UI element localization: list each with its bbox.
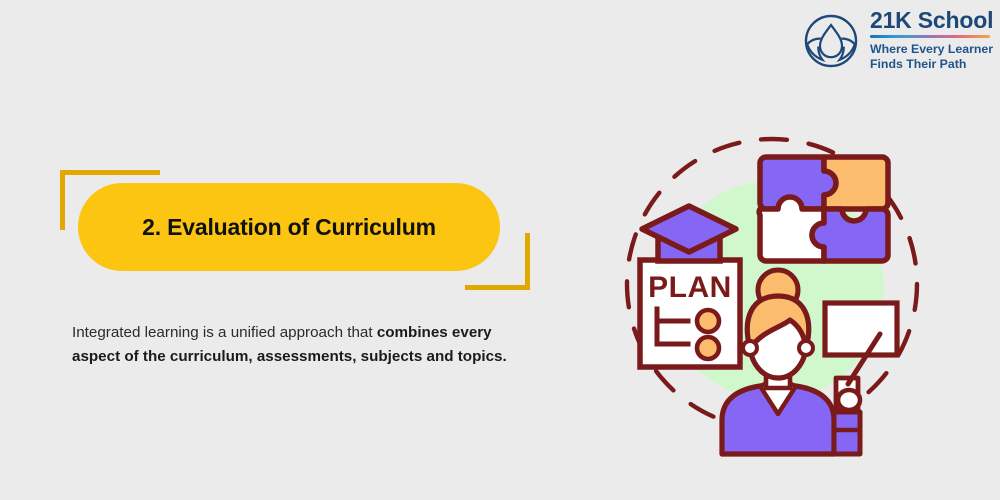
brand-tagline-line1: Where Every Learner <box>870 42 993 57</box>
body-text-normal: Integrated learning is a unified approac… <box>72 324 377 341</box>
slide-canvas: 21K School Where Every Learner Finds The… <box>0 0 1000 500</box>
puzzle-piece-top-right <box>824 157 888 209</box>
plan-document: PLAN <box>640 206 740 367</box>
page-title: 2. Evaluation of Curriculum <box>142 214 436 241</box>
teacher-ear-left <box>743 341 757 355</box>
curriculum-evaluation-illustration: PLAN <box>612 112 942 457</box>
checklist-bullet-1 <box>697 310 719 332</box>
checklist-bullet-2 <box>697 337 719 359</box>
jigsaw-puzzle <box>759 157 888 261</box>
teacher-ear-right <box>799 341 813 355</box>
teacher-thumb <box>838 390 860 410</box>
whiteboard <box>825 303 897 355</box>
title-banner: 2. Evaluation of Curriculum <box>78 183 500 271</box>
title-banner-group: 2. Evaluation of Curriculum <box>60 170 530 290</box>
teacher-arm <box>834 412 860 454</box>
body-paragraph: Integrated learning is a unified approac… <box>72 321 534 368</box>
lotus-circle-logo-icon <box>803 13 859 69</box>
plan-document-label: PLAN <box>648 271 732 304</box>
brand-gradient-rule <box>870 35 990 38</box>
brand-text-block: 21K School Where Every Learner Finds The… <box>870 9 993 72</box>
brand-logo[interactable]: 21K School Where Every Learner Finds The… <box>803 9 993 72</box>
brand-name: 21K School <box>870 9 993 32</box>
brand-tagline-line2: Finds Their Path <box>870 57 993 72</box>
